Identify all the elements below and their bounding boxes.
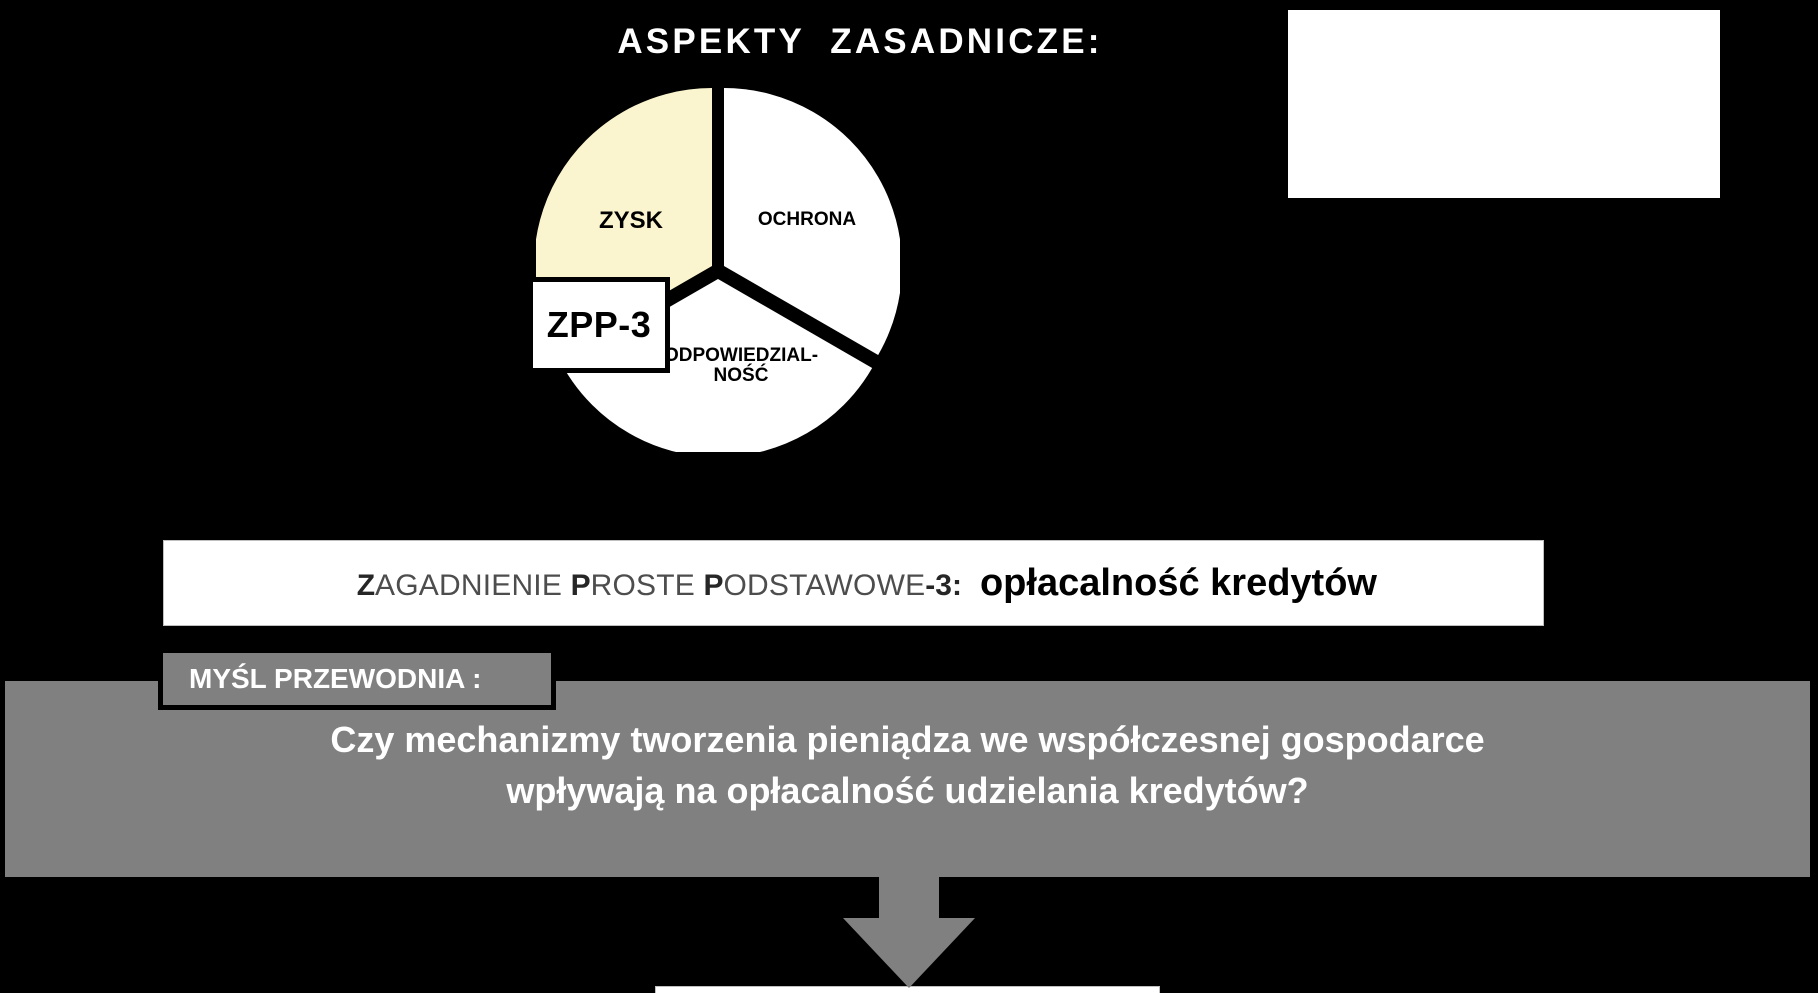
top-right-panel <box>1288 10 1720 198</box>
acronym-letter-z: Z <box>357 569 375 602</box>
mysl-przewodnia-question: Czy mechanizmy tworzenia pieniądza we ws… <box>5 714 1810 816</box>
acronym-letter-p1: P <box>571 569 591 602</box>
zagadnienie-banner-line: ZAGADNIENIE PROSTE PODSTAWOWE-3:opłacaln… <box>330 548 1377 618</box>
acronym-word-podstawowe: ODSTAWOWE <box>724 569 926 602</box>
zagadnienie-banner: ZAGADNIENIE PROSTE PODSTAWOWE-3:opłacaln… <box>163 540 1544 626</box>
pie-label-zysk: ZYSK <box>566 208 696 233</box>
mysl-przewodnia-banner: Czy mechanizmy tworzenia pieniądza we ws… <box>5 681 1810 877</box>
pie-chart: ZYSK OCHRONA ODPOWIEDZIAL- NOŚĆ <box>536 88 900 452</box>
pie-chart-svg <box>536 88 900 452</box>
question-line-1: Czy mechanizmy tworzenia pieniądza we ws… <box>5 714 1810 765</box>
acronym-letter-p2: P <box>704 569 724 602</box>
zpp3-callout-box: ZPP-3 <box>528 277 670 373</box>
mysl-przewodnia-tab: MYŚL PRZEWODNIA : <box>158 648 556 710</box>
acronym-word-proste: ROSTE <box>591 569 704 602</box>
mysl-przewodnia-tab-label: MYŚL PRZEWODNIA : <box>189 663 481 695</box>
acronym-word-zagadnienie: AGADNIENIE <box>375 569 571 602</box>
pie-label-ochrona: OCHRONA <box>732 210 882 230</box>
zpp3-callout-label: ZPP-3 <box>547 304 652 346</box>
slide-canvas: ASPEKTY ZASADNICZE: ZYSK OCHRONA ODPOWIE… <box>0 0 1818 993</box>
question-line-2: wpływają na opłacalność udzielania kredy… <box>5 765 1810 816</box>
zagadnienie-subject: opłacalność kredytów <box>980 562 1377 604</box>
down-arrow-icon <box>843 866 975 988</box>
acronym-suffix-3: -3: <box>925 569 962 602</box>
